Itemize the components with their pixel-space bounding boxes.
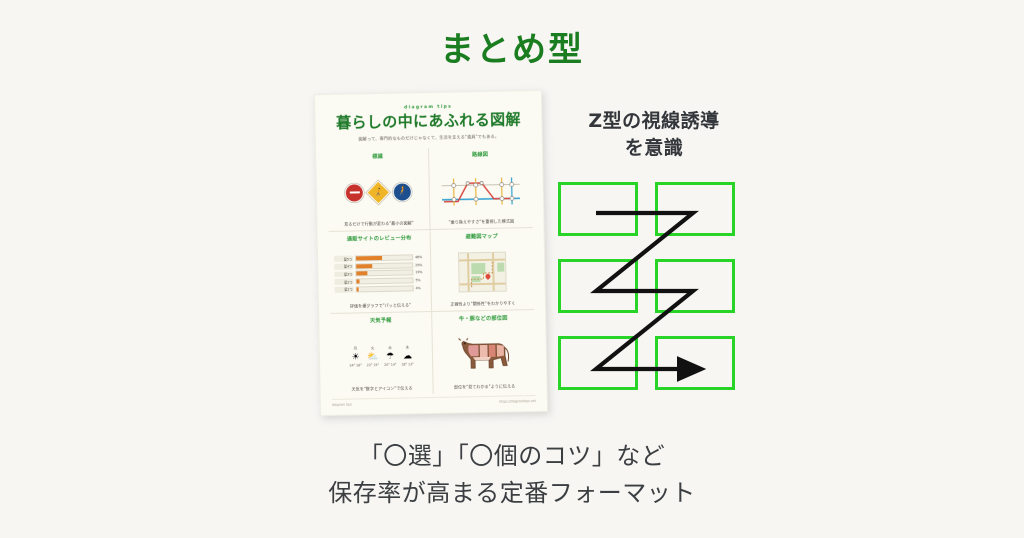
- review-bar-label: 星1つ: [335, 286, 354, 292]
- weather-day-column: 月☀24° 18°: [349, 347, 362, 368]
- partly-cloudy-icon: ⛅: [367, 353, 378, 362]
- page-title: まとめ型: [0, 22, 1024, 71]
- poster-title: 暮らしの中にあふれる図解: [326, 111, 530, 131]
- review-bar-label: 星2つ: [334, 279, 353, 285]
- review-bar-track: [355, 262, 413, 269]
- weather-day-label: 火: [371, 347, 375, 352]
- review-bar-row: 星3つ19%: [334, 270, 425, 278]
- weather-day-column: 木☁18° 13°: [401, 346, 414, 367]
- poster-paper: diagram tips 暮らしの中にあふれる図解 図解って、専門的なものだけじ…: [314, 90, 548, 416]
- z-pattern-diagram: [558, 182, 740, 390]
- map-figure: [458, 252, 507, 293]
- weather-temperature: 24° 18°: [349, 364, 361, 368]
- poster-section-cuts-diagram: 牛・豚などの部位図: [432, 310, 536, 394]
- review-bar-value: 19%: [415, 271, 425, 275]
- cow-illustration: [435, 325, 532, 385]
- weather-forecast: 月☀24° 18°火⛅22° 15°水☂20° 14°木☁18° 13°: [333, 327, 429, 387]
- sunny-icon: ☀: [351, 353, 359, 362]
- weather-day-column: 水☂20° 14°: [384, 346, 397, 367]
- review-bar-row: 星2つ5%: [334, 277, 425, 285]
- review-bar-track: [355, 270, 413, 277]
- review-bar-row: 星4つ29%: [334, 262, 425, 270]
- signs-illustration: 🚶 🚶: [330, 163, 426, 222]
- poster-section-review-chart: 通販サイトのレビュー分布 星5つ46%星4つ29%星3つ19%星2つ5%星1つ4…: [329, 230, 433, 314]
- weather-day-label: 水: [388, 346, 392, 351]
- route-map-svg: [437, 172, 524, 208]
- review-bar-chart: 星5つ46%星4つ29%星3つ19%星2つ5%星1つ4%: [332, 245, 428, 304]
- no-entry-sign-icon: [345, 183, 364, 202]
- section-caption: 見るだけで行動が変わる"最小の図解": [344, 220, 414, 227]
- z-path-arrow: [558, 182, 740, 390]
- section-heading: 通販サイトのレビュー分布: [347, 234, 412, 242]
- poster-footer: diagram tips https://diagramtips.net: [332, 395, 536, 407]
- section-heading: 避難図マップ: [465, 232, 497, 240]
- z-pattern-heading: Z型の視線誘導 を意識: [556, 108, 752, 161]
- slide-canvas: まとめ型 diagram tips 暮らしの中にあふれる図解 図解って、専門的な…: [0, 0, 1024, 538]
- review-bar-fill: [356, 272, 367, 276]
- review-bar-value: 29%: [415, 263, 425, 267]
- route-map-illustration: [432, 161, 529, 220]
- section-caption: 部位を"見てわかる"ように伝える: [454, 383, 515, 390]
- review-bar-value: 46%: [415, 255, 425, 259]
- weather-temperature: 20° 14°: [384, 363, 396, 367]
- z-heading-line-1: Z型の視線誘導: [556, 108, 752, 135]
- review-bar-value: 4%: [416, 286, 426, 290]
- bottom-caption-line-2: 保存率が高まる定番フォーマット: [0, 475, 1024, 512]
- poster-subtitle: 図解って、専門的なものだけじゃなくて、生活を支える"道具"でもある。: [327, 133, 531, 143]
- review-bar-row: 星5つ46%: [334, 254, 425, 262]
- cloudy-icon: ☁: [403, 352, 412, 361]
- pedestrian-only-sign-icon: 🚶: [393, 182, 412, 201]
- poster-section-map: 避難図マップ: [431, 228, 535, 312]
- section-heading: 路線図: [472, 150, 488, 157]
- bottom-caption-line-1: 「〇選」「〇個のコツ」など: [0, 438, 1024, 475]
- poster-section-signs: 標識 🚶 🚶 見るだけで行動が変わる"最小の図解": [327, 148, 431, 232]
- section-heading: 天気予報: [370, 317, 392, 324]
- review-bar-value: 5%: [415, 278, 425, 282]
- review-bar-track: [355, 277, 413, 284]
- poster-section-grid: 標識 🚶 🚶 見るだけで行動が変わる"最小の図解" 路線図: [327, 146, 536, 396]
- section-caption: 正確性より"関係性"をわかりやすく: [450, 300, 515, 307]
- bottom-caption: 「〇選」「〇個のコツ」など 保存率が高まる定番フォーマット: [0, 438, 1024, 512]
- section-caption: "乗り換えやすさ"を重視した模式図: [449, 218, 514, 225]
- poster-footer-right: https://diagramtips.net: [499, 399, 536, 404]
- section-heading: 牛・豚などの部位図: [459, 314, 508, 322]
- weather-temperature: 22° 15°: [367, 363, 379, 367]
- review-bar-track: [356, 285, 414, 292]
- review-bar-fill: [356, 279, 359, 283]
- map-illustration: [434, 243, 531, 302]
- map-route-line: [459, 253, 506, 292]
- rainy-icon: ☂: [386, 353, 394, 362]
- poster-section-route-map: 路線図: [429, 146, 533, 230]
- weather-day-label: 木: [405, 346, 409, 351]
- review-bar-label: 星5つ: [334, 256, 353, 262]
- review-bar-row: 星1つ4%: [335, 285, 426, 293]
- weather-day-label: 月: [353, 347, 357, 352]
- section-caption: 天気を"数字とアイコン"で伝える: [352, 385, 413, 392]
- section-heading: 標識: [372, 152, 383, 159]
- section-caption: 評価を横グラフで"パッと伝える": [350, 302, 411, 309]
- review-bar-label: 星4つ: [334, 263, 353, 269]
- review-bar-track: [355, 255, 413, 262]
- weather-day-column: 火⛅22° 15°: [366, 346, 379, 367]
- review-bar-fill: [356, 256, 382, 260]
- poster-footer-left: diagram tips: [332, 403, 352, 407]
- review-bar-label: 星3つ: [334, 271, 353, 277]
- pedestrian-crossing-warning-sign-icon: 🚶: [366, 180, 390, 204]
- poster-section-weather: 天気予報 月☀24° 18°火⛅22° 15°水☂20° 14°木☁18° 13…: [330, 312, 434, 396]
- review-bar-fill: [357, 287, 359, 291]
- cow-cuts-svg: [455, 335, 514, 374]
- weather-temperature: 18° 13°: [401, 363, 413, 367]
- z-heading-line-2: を意識: [556, 135, 752, 162]
- poster-thumbnail[interactable]: diagram tips 暮らしの中にあふれる図解 図解って、専門的なものだけじ…: [314, 90, 548, 416]
- review-bar-fill: [356, 264, 372, 268]
